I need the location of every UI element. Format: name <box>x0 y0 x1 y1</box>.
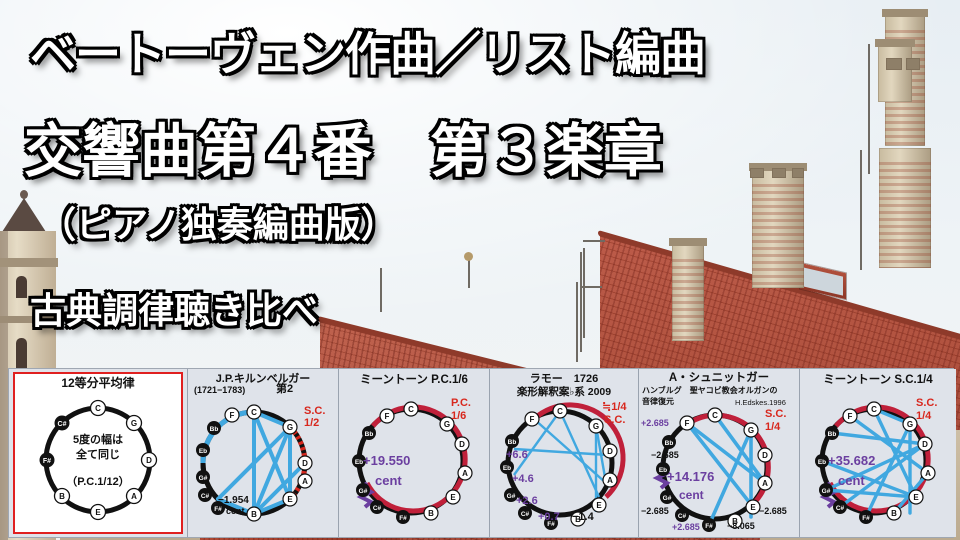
svg-text:F: F <box>230 411 235 420</box>
antenna-4 <box>580 252 582 352</box>
chimney-brick <box>672 259 704 341</box>
note-node-C: C <box>404 402 418 416</box>
note-node-Eb: Eb <box>196 443 210 457</box>
svg-text:G: G <box>593 422 599 431</box>
note-node-C: C <box>553 404 567 418</box>
cent-unit-label: cent <box>226 506 245 516</box>
svg-text:G: G <box>748 426 754 435</box>
svg-text:F: F <box>685 419 690 428</box>
chimney-3 <box>752 170 804 288</box>
note-node-F: F <box>225 408 239 422</box>
panel-meantone-pc-1-6[interactable]: ミーントーン P.C.1/6 C G D A E B F# C# G# Eb B… <box>339 369 490 537</box>
svg-text:A: A <box>925 469 931 478</box>
note-node-E: E <box>909 490 923 504</box>
note-node-Csharp: C# <box>833 500 847 514</box>
note-node-B: B <box>55 489 70 504</box>
cent-value-fsharp: −8.065 <box>727 521 755 531</box>
note-node-B: B <box>247 507 261 521</box>
svg-text:C: C <box>712 411 718 420</box>
cent-value-b: −2.685 <box>759 506 787 516</box>
svg-text:G: G <box>907 420 913 429</box>
headline-subtitle-comparison: 古典調律聴き比べ <box>30 282 318 334</box>
cent-value-csharp: +0.7 <box>538 511 560 523</box>
panel-title: J.P.キルンベルガー <box>188 373 338 385</box>
note-node-Bb: Bb <box>207 421 221 435</box>
chimney-pot-c <box>750 168 764 178</box>
note-node-A: A <box>127 489 142 504</box>
panel-equal-temperament[interactable]: 12等分平均律 C G D A E B F# C# 5度の幅は 全て同じ （P.… <box>9 369 188 537</box>
svg-text:G#: G# <box>663 495 672 502</box>
svg-text:Eb: Eb <box>659 467 667 474</box>
note-node-A: A <box>603 473 617 487</box>
svg-text:G#: G# <box>822 488 831 495</box>
panel-center-text-3: （P.C.1/12） <box>9 475 187 490</box>
svg-text:G#: G# <box>199 475 208 482</box>
cent-value-eb: +4.6 <box>512 473 534 485</box>
note-node-F: F <box>680 416 694 430</box>
chimney-pot-b <box>906 58 920 70</box>
antenna-6 <box>380 268 382 312</box>
svg-text:G: G <box>131 419 137 428</box>
note-node-Fsharp: F# <box>702 518 716 532</box>
svg-text:E: E <box>95 508 101 517</box>
svg-text:D: D <box>762 451 768 460</box>
panel-title: A・シュニットガー <box>639 372 799 384</box>
note-node-Csharp: C# <box>675 508 689 522</box>
note-node-C: C <box>91 401 106 416</box>
chimney-2 <box>878 46 912 102</box>
svg-text:C#: C# <box>58 421 67 428</box>
note-node-Bb: Bb <box>662 435 676 449</box>
antenna-3-bar2 <box>580 286 602 288</box>
svg-text:B: B <box>59 492 65 501</box>
svg-text:C: C <box>871 405 877 414</box>
svg-text:Bb: Bb <box>508 439 517 446</box>
note-node-B: B <box>424 506 438 520</box>
temperament-panel-strip: 12等分平均律 C G D A E B F# C# 5度の幅は 全て同じ （P.… <box>8 368 954 538</box>
note-node-C: C <box>867 402 881 416</box>
note-node-C: C <box>708 408 722 422</box>
svg-text:C: C <box>408 405 414 414</box>
note-node-E: E <box>446 490 460 504</box>
cent-unit-label: cent <box>838 473 865 488</box>
svg-text:D: D <box>302 459 308 468</box>
cent-value-gsharp: −2.685 <box>641 506 669 516</box>
tower-cornice-upper <box>0 258 58 267</box>
svg-text:A: A <box>302 477 308 486</box>
note-node-D: D <box>455 437 469 451</box>
note-node-B: B <box>887 506 901 520</box>
cent-value-label: +35.682 <box>828 453 875 468</box>
svg-text:A: A <box>762 479 768 488</box>
note-node-Bb: Bb <box>505 434 519 448</box>
panel-version: 第2 <box>276 385 293 394</box>
svg-text:C: C <box>95 404 101 413</box>
panel-corner-label-line2: 1/4 <box>916 410 931 422</box>
antenna-7 <box>468 258 470 288</box>
svg-text:C#: C# <box>373 505 382 512</box>
svg-text:E: E <box>750 503 756 512</box>
note-node-E: E <box>283 492 297 506</box>
svg-text:Bb: Bb <box>210 426 219 433</box>
svg-text:E: E <box>450 493 456 502</box>
svg-text:A: A <box>131 492 137 501</box>
svg-text:D: D <box>607 447 613 456</box>
chimney-1-base <box>879 148 931 268</box>
note-node-Fsharp: F# <box>396 510 410 524</box>
note-node-Gsharp: G# <box>196 470 210 484</box>
svg-text:F#: F# <box>862 515 870 522</box>
svg-text:C#: C# <box>521 511 530 518</box>
panel-corner-label-line1: P.C. <box>451 397 471 409</box>
svg-text:B: B <box>251 510 257 519</box>
svg-text:F: F <box>848 412 853 421</box>
svg-text:C: C <box>251 408 257 417</box>
note-node-F: F <box>525 412 539 426</box>
panel-rameau-1726[interactable]: ラモー 1726 楽形解釈案♭系 2009 C G D A <box>490 369 639 537</box>
cent-unit-label: cent <box>375 473 402 488</box>
svg-text:C#: C# <box>678 513 687 520</box>
svg-text:F#: F# <box>705 523 713 530</box>
cent-value-label: +19.550 <box>363 453 410 468</box>
headline-work-title: 交響曲第４番 第３楽章 <box>24 104 662 188</box>
antenna-5 <box>576 282 578 362</box>
cent-value-label: −1.954 <box>218 495 249 506</box>
chimney-4 <box>672 245 704 341</box>
panel-corner-label-line1: S.C. <box>304 405 325 417</box>
panel-corner-label-line2: 1/2 <box>304 417 319 429</box>
note-node-G: G <box>127 416 142 431</box>
svg-text:B: B <box>891 509 897 518</box>
svg-text:G#: G# <box>359 488 368 495</box>
svg-text:E: E <box>913 493 919 502</box>
note-node-E: E <box>592 498 606 512</box>
cent-value-csharp: +2.685 <box>672 522 700 532</box>
note-node-A: A <box>458 466 472 480</box>
svg-text:D: D <box>922 440 928 449</box>
note-node-Eb: Eb <box>500 460 514 474</box>
note-node-Gsharp: G# <box>660 490 674 504</box>
panel-corner-label-line2: S.C. <box>604 414 625 426</box>
panel-title: 12等分平均律 <box>9 377 187 389</box>
chimney-pot-d <box>772 168 786 178</box>
note-node-D: D <box>603 444 617 458</box>
note-node-Gsharp: G# <box>819 483 833 497</box>
headline-composer-arranger: ベートーヴェン作曲／リスト編曲 <box>30 18 705 84</box>
cent-value-gsharp: +2.6 <box>516 495 538 507</box>
chimney-cap <box>882 9 928 17</box>
svg-text:F#: F# <box>214 506 222 513</box>
note-node-Eb: Eb <box>815 454 829 468</box>
chimney-pot-e <box>792 168 804 178</box>
note-node-E: E <box>746 500 760 514</box>
panel-center-text-2: 全て同じ <box>9 448 187 463</box>
note-node-A2: A <box>298 474 312 488</box>
svg-text:C: C <box>557 407 563 416</box>
svg-text:B: B <box>428 509 434 518</box>
panel-corner-label-line1: ≒1/4 <box>602 401 627 413</box>
antenna-3-bar <box>583 240 605 242</box>
svg-text:G: G <box>287 423 293 432</box>
note-node-G: G <box>744 423 758 437</box>
chimney-cap <box>875 39 915 47</box>
antenna-3 <box>583 248 585 338</box>
panel-kirnberger-2[interactable]: J.P.キルンベルガー (1721−1783) 第2 <box>188 369 339 537</box>
svg-text:Eb: Eb <box>199 448 207 455</box>
note-node-E: E <box>91 505 106 520</box>
svg-text:Bb: Bb <box>665 440 674 447</box>
note-node-F: F <box>843 409 857 423</box>
tower-window-2 <box>16 338 27 368</box>
svg-text:E: E <box>596 501 602 510</box>
svg-text:Bb: Bb <box>828 431 837 438</box>
svg-text:G#: G# <box>507 493 516 500</box>
panel-dates: (1721−1783) <box>194 386 245 395</box>
chimney-pot-a <box>886 58 902 70</box>
note-node-D: D <box>758 448 772 462</box>
note-node-G: G <box>283 420 297 434</box>
cent-value-bb: −2.685 <box>651 450 679 460</box>
panel-title: ミーントーン S.C.1/4 <box>800 374 956 386</box>
note-node-Gsharp: G# <box>356 483 370 497</box>
panel-title: ミーントーン P.C.1/6 <box>339 374 489 386</box>
cent-unit-label: cent <box>679 488 704 502</box>
cent-value-f: +2.685 <box>641 418 669 428</box>
note-node-D: D <box>918 437 932 451</box>
svg-text:F: F <box>530 415 535 424</box>
panel-corner-label-line1: S.C. <box>765 408 786 420</box>
panel-corner-label-line2: 1/4 <box>765 421 780 433</box>
svg-text:F#: F# <box>399 515 407 522</box>
panel-schnitger[interactable]: A・シュニットガー ハンブルグ 聖ヤコビ教会オルガンの 音律復元 H.Edske… <box>639 369 800 537</box>
tower-shadow <box>0 231 8 540</box>
cent-value-fsharp: −1.4 <box>572 511 594 523</box>
note-node-Csharp: C# <box>198 488 212 502</box>
svg-text:Eb: Eb <box>503 465 511 472</box>
svg-text:E: E <box>287 495 293 504</box>
slide-canvas: ベートーヴェン作曲／リスト編曲 交響曲第４番 第３楽章 （ピアノ独奏編曲版） 古… <box>0 0 960 540</box>
cent-value-main: +14.176 <box>667 469 714 484</box>
svg-text:Eb: Eb <box>818 459 826 466</box>
panel-title: ラモー 1726 <box>490 373 638 385</box>
svg-text:D: D <box>459 440 465 449</box>
note-node-A: A <box>758 476 772 490</box>
chimney-brick <box>752 184 804 288</box>
note-node-G: G <box>903 417 917 431</box>
note-node-D: D <box>298 456 312 470</box>
note-node-Csharp: C# <box>370 500 384 514</box>
note-node-Csharp: C# <box>55 416 70 431</box>
svg-text:C#: C# <box>836 505 845 512</box>
svg-text:G: G <box>444 420 450 429</box>
svg-text:Bb: Bb <box>365 431 374 438</box>
panel-meantone-sc-1-4[interactable]: ミーントーン S.C.1/4 <box>800 369 956 537</box>
panel-center-text-1: 5度の幅は <box>9 433 187 448</box>
panel-subtitle-line1: ハンブルグ 聖ヤコビ教会オルガンの <box>642 386 778 395</box>
svg-text:C#: C# <box>201 493 210 500</box>
svg-text:A: A <box>462 469 468 478</box>
note-node-Csharp: C# <box>518 506 532 520</box>
note-node-F: F <box>380 409 394 423</box>
antenna-1 <box>868 44 870 174</box>
antenna-2 <box>860 150 862 270</box>
panel-corner-label-line2: 1/6 <box>451 410 466 422</box>
chimney-brick <box>879 162 931 268</box>
tower-window-1 <box>16 276 27 298</box>
note-node-G: G <box>589 419 603 433</box>
headline-arrangement-note: （ピアノ独奏編曲版） <box>40 196 397 248</box>
svg-text:Eb: Eb <box>355 459 363 466</box>
roof-finial-ball <box>464 252 473 261</box>
note-node-Bb: Bb <box>825 426 839 440</box>
panel-corner-label-line1: S.C. <box>916 397 937 409</box>
svg-text:F: F <box>385 412 390 421</box>
note-node-Bb: Bb <box>362 426 376 440</box>
note-node-Fsharp: F# <box>859 510 873 524</box>
chimney-cap <box>669 238 707 246</box>
cent-value-bb: +6.6 <box>506 449 528 461</box>
note-node-C: C <box>247 405 261 419</box>
svg-text:A: A <box>607 476 613 485</box>
note-node-A: A <box>921 466 935 480</box>
